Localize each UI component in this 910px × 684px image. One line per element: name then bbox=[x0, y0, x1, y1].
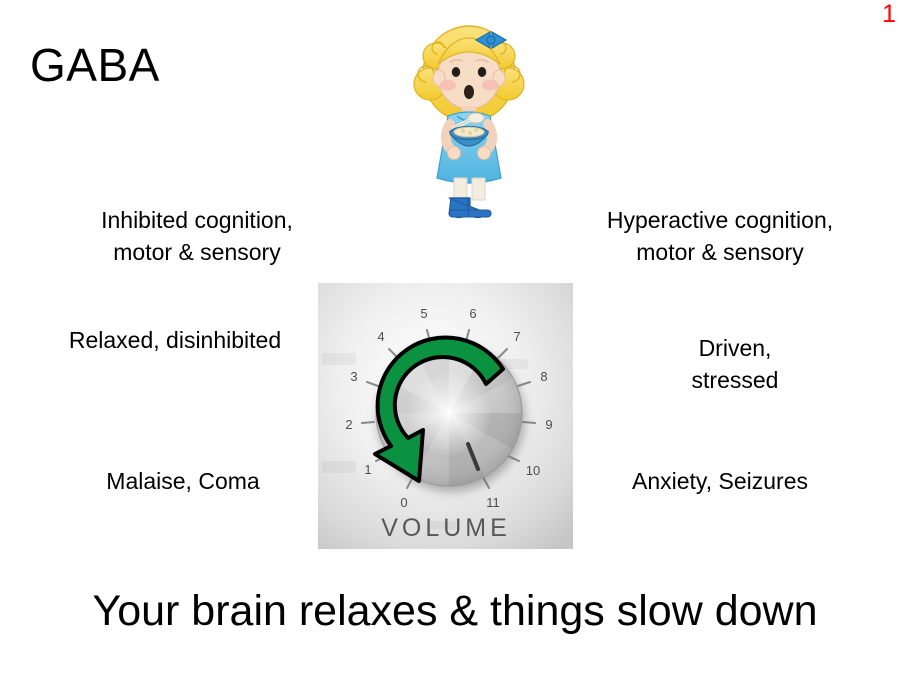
volume-knob-svg: 0 1 2 3 4 5 6 7 8 9 10 11 bbox=[318, 283, 573, 549]
label-anxiety-seizures: Anxiety, Seizures bbox=[570, 466, 870, 498]
label-driven-stressed: Driven, stressed bbox=[620, 333, 850, 396]
dial-number-1: 1 bbox=[364, 462, 371, 477]
dial-number-0: 0 bbox=[400, 495, 407, 510]
label-malaise-coma: Malaise, Coma bbox=[38, 466, 328, 498]
dial-number-9: 9 bbox=[545, 417, 552, 432]
girl-svg bbox=[404, 12, 534, 252]
label-hyperactive-cognition: Hyperactive cognition, motor & sensory bbox=[560, 205, 880, 268]
label-relaxed-disinhibited: Relaxed, disinhibited bbox=[30, 325, 320, 357]
girl-eating-cereal-illustration bbox=[404, 12, 534, 252]
dial-number-2: 2 bbox=[345, 417, 352, 432]
slide-canvas: 1 GABA bbox=[0, 0, 910, 684]
dial-number-5: 5 bbox=[420, 306, 427, 321]
volume-knob-image: 0 1 2 3 4 5 6 7 8 9 10 11 bbox=[318, 283, 573, 549]
page-title: GABA bbox=[30, 40, 160, 91]
dial-number-10: 10 bbox=[526, 463, 540, 478]
dial-number-8: 8 bbox=[540, 369, 547, 384]
dial-number-7: 7 bbox=[513, 329, 520, 344]
page-number: 1 bbox=[882, 2, 896, 27]
label-inhibited-cognition: Inhibited cognition, motor & sensory bbox=[52, 205, 342, 268]
dial-number-11: 11 bbox=[486, 495, 500, 510]
bottom-headline: Your brain relaxes & things slow down bbox=[0, 588, 910, 635]
dial-number-4: 4 bbox=[377, 329, 384, 344]
volume-caption: VOLUME bbox=[381, 514, 511, 542]
dial-number-3: 3 bbox=[350, 369, 357, 384]
dial-number-6: 6 bbox=[469, 306, 476, 321]
